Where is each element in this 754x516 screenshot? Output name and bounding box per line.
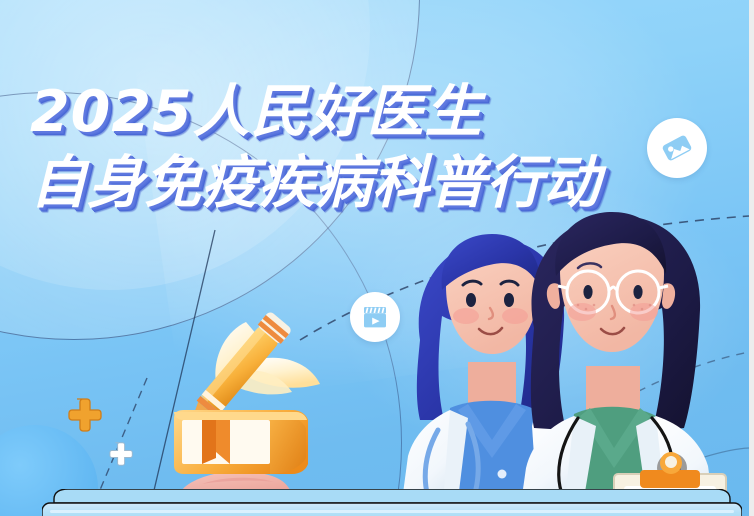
poster-title: 2025人民好医生 自身免疫疾病科普行动 xyxy=(30,84,600,212)
right-edge-strip xyxy=(749,0,754,516)
image-icon xyxy=(657,128,697,168)
doctors-illustration xyxy=(398,212,749,516)
video-badge[interactable]: 视频 xyxy=(350,292,400,342)
title-line-1: 2025人民好医生 xyxy=(30,84,600,141)
video-clapperboard-icon xyxy=(358,300,392,334)
plus-white-icon xyxy=(105,440,133,473)
photo-badge[interactable]: 图片 xyxy=(647,118,707,178)
doctor-right xyxy=(520,212,714,510)
artboard: 2025人民好医生 自身免疫疾病科普行动 图片 xyxy=(0,0,749,516)
doctor-right-eye-left xyxy=(583,285,592,299)
bottom-counter-panel xyxy=(42,489,742,516)
plus-orange-icon xyxy=(62,395,102,440)
doctor-left-eye-right xyxy=(504,293,514,307)
winged-pencil-over-book-illustration xyxy=(150,300,365,516)
doctor-right-eye-right xyxy=(633,285,642,299)
doctor-left-eye-left xyxy=(466,293,476,307)
campaign-banner: 2025人民好医生 自身免疫疾病科普行动 图片 xyxy=(0,0,754,516)
book-icon xyxy=(174,410,308,474)
title-line-2: 自身免疫疾病科普行动 xyxy=(30,155,600,212)
